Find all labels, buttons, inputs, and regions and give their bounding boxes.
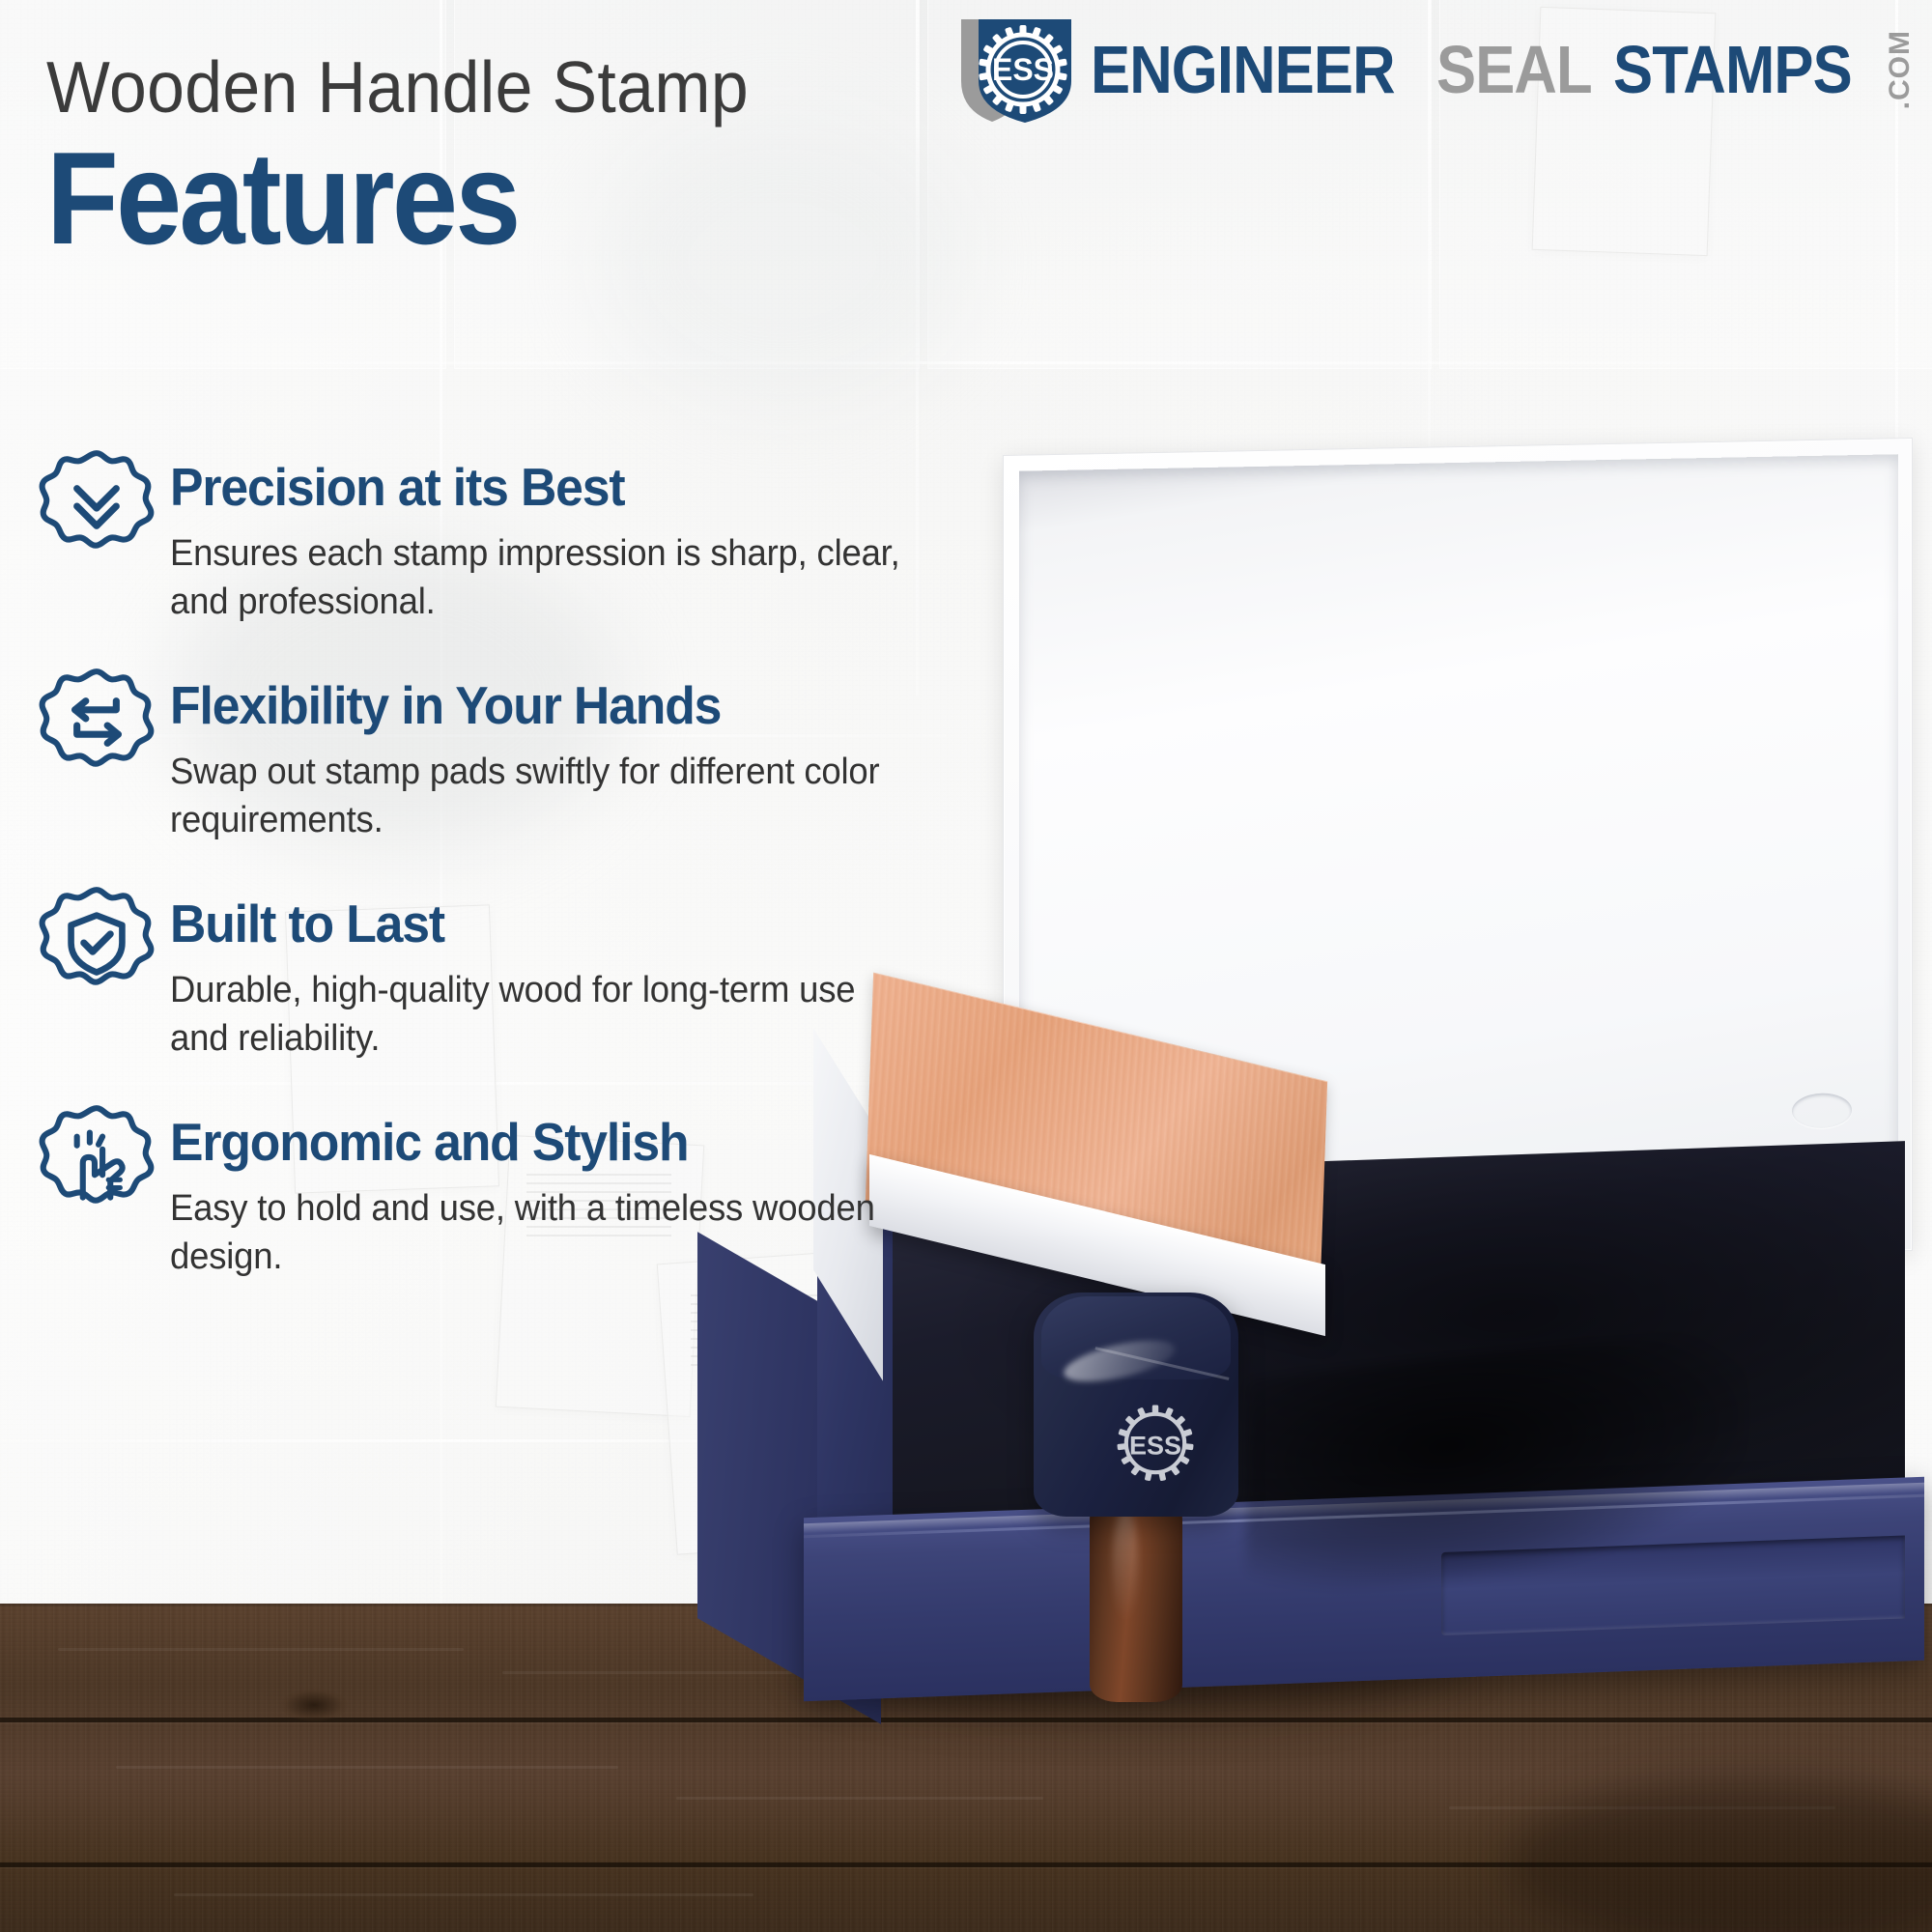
feature-item: Ergonomic and Stylish Easy to hold and u…: [33, 1099, 1009, 1281]
ess-shield-gear-icon: ESS: [953, 14, 1079, 126]
handle-logo-text: ESS: [1129, 1431, 1181, 1460]
page-title: Features: [46, 131, 898, 265]
wordmark-engineer: ENGINEER: [1091, 36, 1395, 103]
wordmark-tld: .COM: [1886, 30, 1915, 109]
swap-arrows-badge-icon: [33, 659, 160, 786]
features-list: Precision at its Best Ensures each stamp…: [33, 444, 1009, 1318]
feature-heading: Precision at its Best: [170, 458, 958, 516]
page-title-block: Wooden Handle Stamp Features: [46, 46, 993, 265]
page-subtitle: Wooden Handle Stamp: [46, 46, 926, 128]
handle-ess-gear-icon: ESS: [1105, 1393, 1206, 1493]
feature-item: Flexibility in Your Hands Swap out stamp…: [33, 663, 1009, 844]
feature-body: Ensures each stamp impression is sharp, …: [170, 529, 912, 626]
wordmark-stamps: STAMPS: [1613, 36, 1852, 103]
feature-item: Built to Last Durable, high-quality wood…: [33, 881, 1009, 1063]
wordmark-seal: SEAL: [1436, 36, 1592, 103]
feature-heading: Ergonomic and Stylish: [170, 1113, 958, 1171]
feature-body: Easy to hold and use, with a timeless wo…: [170, 1184, 912, 1281]
logo-monogram-text: ESS: [992, 52, 1054, 87]
feature-item: Precision at its Best Ensures each stamp…: [33, 444, 1009, 626]
shield-check-badge-icon: [33, 877, 160, 1005]
product-photo: ESS: [927, 386, 1932, 1671]
brand-wordmark: ENGINEER SEAL STAMPS .COM: [1091, 25, 1915, 114]
brand-logo[interactable]: ESS ENGINEER SEAL STAMPS .COM: [953, 12, 1915, 128]
feature-heading: Flexibility in Your Hands: [170, 676, 958, 734]
feature-body: Durable, high-quality wood for long-term…: [170, 966, 912, 1063]
stamp-handle-knob: ESS: [1034, 1293, 1238, 1517]
infographic-canvas: ESS Wooden Handle Stamp Features: [0, 0, 1932, 1932]
feature-body: Swap out stamp pads swiftly for differen…: [170, 748, 912, 844]
feature-heading: Built to Last: [170, 895, 958, 952]
chevron-double-down-badge-icon: [33, 440, 160, 568]
tap-hand-badge-icon: [33, 1095, 160, 1223]
